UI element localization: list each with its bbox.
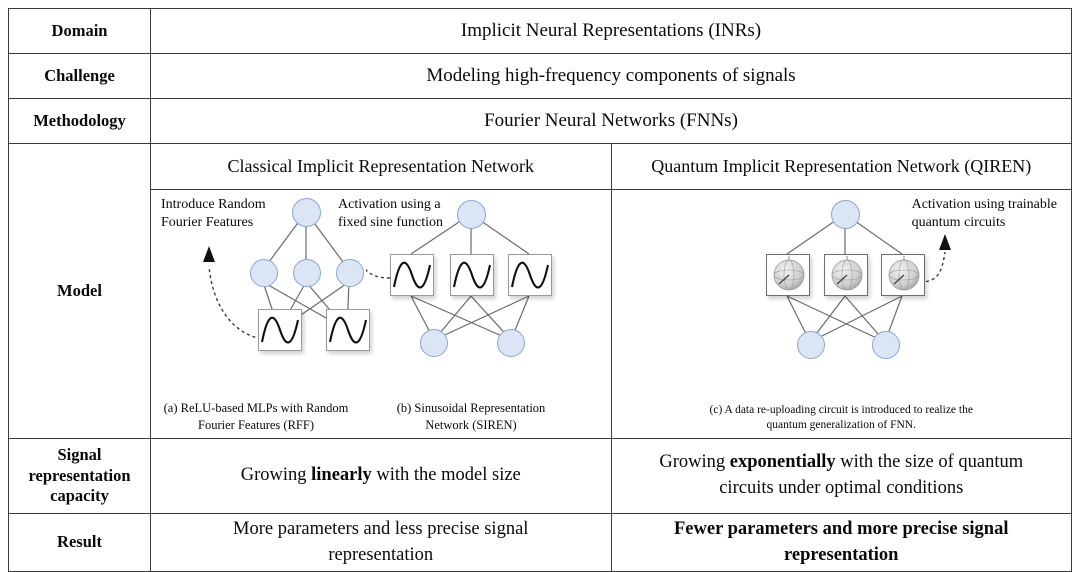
sine-tile-b-3 <box>508 254 552 296</box>
caption-c-line2: quantum generalization of FNN. <box>767 419 916 431</box>
quantum-diagram: Activation using trainable quantum circu… <box>612 190 1072 438</box>
row-value-domain: Implicit Neural Representations (INRs) <box>151 9 1072 54</box>
caption-b: (b) Sinusoidal Representation Network (S… <box>366 400 576 434</box>
row-label-result: Result <box>9 514 151 572</box>
row-label-capacity: Signal representation capacity <box>9 439 151 514</box>
node-a-hidden-2 <box>293 259 321 287</box>
capacity-classical-prefix: Growing <box>241 465 311 485</box>
node-a-output <box>292 198 321 227</box>
caption-a-line1: (a) ReLU-based MLPs with Random <box>164 401 349 415</box>
node-a-hidden-3 <box>336 259 364 287</box>
node-b-input-2 <box>497 329 525 357</box>
sine-tile-a-2 <box>326 309 370 351</box>
row-value-challenge: Modeling high-frequency components of si… <box>151 54 1072 99</box>
table-row-column-headers: Model Classical Implicit Representation … <box>9 144 1072 190</box>
caption-b-line2: Network (SIREN) <box>425 418 516 432</box>
node-b-output <box>457 200 486 229</box>
column-header-classical: Classical Implicit Representation Networ… <box>151 144 612 190</box>
table-row-model: Introduce Random Fourier Features Activa… <box>9 190 1072 439</box>
sine-tile-b-2 <box>450 254 494 296</box>
caption-b-line1: (b) Sinusoidal Representation <box>397 401 546 415</box>
caption-a: (a) ReLU-based MLPs with Random Fourier … <box>151 400 361 434</box>
sine-tile-a-1 <box>258 309 302 351</box>
table-row-methodology: Methodology Fourier Neural Networks (FNN… <box>9 99 1072 144</box>
column-header-quantum: Quantum Implicit Representation Network … <box>611 144 1072 190</box>
capacity-quantum-bold: exponentially <box>730 452 836 472</box>
node-c-output <box>831 200 860 229</box>
node-b-input-1 <box>420 329 448 357</box>
summary-table: Domain Implicit Neural Representations (… <box>8 8 1072 572</box>
capacity-quantum: Growing exponentially with the size of q… <box>611 439 1072 514</box>
result-quantum: Fewer parameters and more precise signal… <box>611 514 1072 572</box>
node-a-hidden-1 <box>250 259 278 287</box>
comparison-table-figure: Domain Implicit Neural Representations (… <box>0 0 1080 534</box>
capacity-classical: Growing linearly with the model size <box>151 439 612 514</box>
table-row-capacity: Signal representation capacity Growing l… <box>9 439 1072 514</box>
caption-c: (c) A data re-uploading circuit is intro… <box>612 403 1072 434</box>
result-quantum-text: Fewer parameters and more precise signal… <box>674 519 1008 565</box>
table-row-domain: Domain Implicit Neural Representations (… <box>9 9 1072 54</box>
table-row-result: Result More parameters and less precise … <box>9 514 1072 572</box>
row-label-challenge: Challenge <box>9 54 151 99</box>
node-c-input-2 <box>872 331 900 359</box>
result-classical-text: More parameters and less precise signal … <box>233 519 528 565</box>
diagram-c-edges <box>742 190 1072 405</box>
caption-c-line1: (c) A data re-uploading circuit is intro… <box>710 404 973 416</box>
result-classical: More parameters and less precise signal … <box>151 514 612 572</box>
row-label-model: Model <box>9 144 151 439</box>
row-label-methodology: Methodology <box>9 99 151 144</box>
capacity-classical-bold: linearly <box>311 465 372 485</box>
model-cell-classical: Introduce Random Fourier Features Activa… <box>151 190 612 439</box>
row-value-methodology: Fourier Neural Networks (FNNs) <box>151 99 1072 144</box>
capacity-classical-suffix: with the model size <box>372 465 521 485</box>
row-label-domain: Domain <box>9 9 151 54</box>
sine-tile-b-1 <box>390 254 434 296</box>
capacity-quantum-prefix: Growing <box>659 452 729 472</box>
quantum-tile-3 <box>881 254 925 296</box>
model-cell-quantum: Activation using trainable quantum circu… <box>611 190 1072 439</box>
node-c-input-1 <box>797 331 825 359</box>
quantum-tile-2 <box>824 254 868 296</box>
caption-a-line2: Fourier Features (RFF) <box>198 418 314 432</box>
table-row-challenge: Challenge Modeling high-frequency compon… <box>9 54 1072 99</box>
classical-diagrams: Introduce Random Fourier Features Activa… <box>151 190 611 438</box>
quantum-tile-1 <box>766 254 810 296</box>
